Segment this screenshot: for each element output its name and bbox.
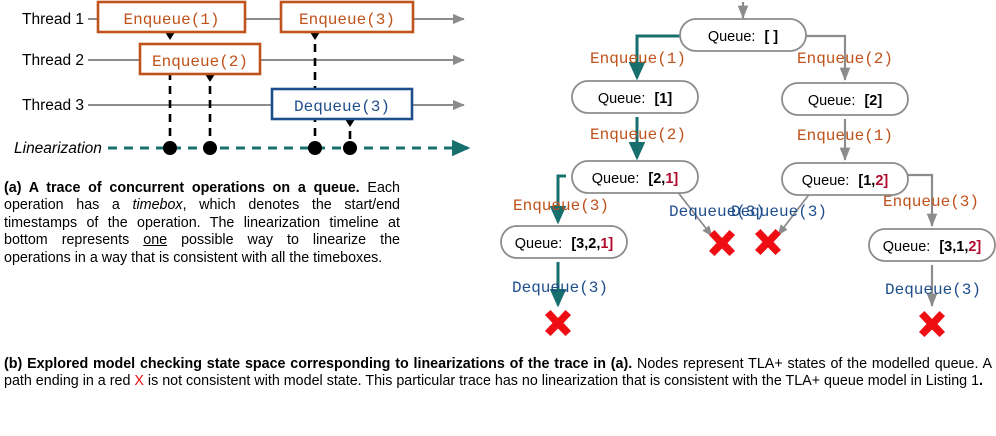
timebox-label: Enqueue(2) <box>152 53 248 71</box>
tree-node-q12[interactable]: Queue: [1,2] <box>782 163 908 195</box>
tree-node-q1[interactable]: Queue: [1] <box>572 81 698 113</box>
node-value-red: 2] <box>875 173 888 189</box>
timebox-label: Enqueue(3) <box>299 11 395 29</box>
failure-x-icon <box>709 230 735 256</box>
node-value-red: 1] <box>665 171 678 187</box>
figure-container: Thread 1 Thread 2 Thread 3 Linearization… <box>0 0 996 436</box>
tree-node-q2[interactable]: Queue: [2] <box>782 83 908 115</box>
caption-b-rest-3: . <box>979 373 983 389</box>
caption-b-red-x: X <box>134 373 144 389</box>
edge-label-enqueue-3-right: Enqueue(3) <box>883 193 979 211</box>
caption-a-bold: (a) A trace of concurrent operations on … <box>4 180 360 196</box>
edge-label-enqueue-2: Enqueue(2) <box>797 50 893 68</box>
failure-x-icon <box>755 229 781 255</box>
edge-label-enqueue-2b: Enqueue(2) <box>590 126 686 144</box>
node-value: [2] <box>864 93 882 109</box>
figure-svg: Thread 1 Thread 2 Thread 3 Linearization… <box>0 0 996 356</box>
tree-node-q21[interactable]: Queue: [2,1] <box>572 161 698 193</box>
linearization-point <box>308 141 322 155</box>
lane-label-linearization: Linearization <box>14 140 102 157</box>
edge-label-dequeue-3-d: Dequeue(3) <box>885 281 981 299</box>
node-value: [1] <box>654 91 672 107</box>
svg-text:Queue: [2]: Queue: [2] <box>808 93 883 109</box>
edge-label-dequeue-3-b: Dequeue(3) <box>731 203 827 221</box>
node-value: [ ] <box>764 29 778 45</box>
lane-label-thread-3: Thread 3 <box>22 97 84 114</box>
tree-node-q321[interactable]: Queue: [3,2,1] <box>501 226 627 258</box>
node-prefix: Queue: <box>598 91 646 107</box>
node-value: [1, <box>858 173 875 189</box>
timebox-label: Enqueue(1) <box>123 11 219 29</box>
caption-b-rest-2: is not consistent with model state. This… <box>144 373 979 389</box>
tree-node-root[interactable]: Queue: [ ] <box>680 19 806 51</box>
svg-text:Queue: [3,1,2]: Queue: [3,1,2] <box>883 239 982 255</box>
node-prefix: Queue: <box>808 93 856 109</box>
tree-node-q312[interactable]: Queue: [3,1,2] <box>869 229 995 261</box>
node-value: [3,1, <box>939 239 968 255</box>
caption-a: (a) A trace of concurrent operations on … <box>4 180 400 267</box>
timebox-enqueue-2[interactable]: Enqueue(2) <box>140 44 260 74</box>
svg-text:Queue: [ ]: Queue: [ ] <box>708 29 778 45</box>
svg-text:Queue: [2,1]: Queue: [2,1] <box>592 171 679 187</box>
failure-x-icon <box>919 311 945 337</box>
failure-x-icon <box>545 310 571 336</box>
node-prefix: Queue: <box>592 171 640 187</box>
linearization-point <box>203 141 217 155</box>
edge-label-enqueue-3-left: Enqueue(3) <box>513 197 609 215</box>
lane-label-thread-1: Thread 1 <box>22 11 84 28</box>
linearization-point <box>163 141 177 155</box>
edge-label-enqueue-1b: Enqueue(1) <box>797 127 893 145</box>
svg-text:Queue: [1]: Queue: [1] <box>598 91 673 107</box>
timebox-dequeue-3[interactable]: Dequeue(3) <box>272 89 412 119</box>
node-prefix: Queue: <box>883 239 931 255</box>
node-value: [2, <box>648 171 665 187</box>
timebox-enqueue-1[interactable]: Enqueue(1) <box>98 2 245 32</box>
svg-text:Queue: [1,2]: Queue: [1,2] <box>802 173 889 189</box>
node-prefix: Queue: <box>515 236 563 252</box>
node-value-red: 1] <box>600 236 613 252</box>
lane-label-thread-2: Thread 2 <box>22 52 84 69</box>
node-prefix: Queue: <box>708 29 756 45</box>
node-value-red: 2] <box>968 239 981 255</box>
edge-label-enqueue-1: Enqueue(1) <box>590 50 686 68</box>
node-value: [3,2, <box>571 236 600 252</box>
linearization-point <box>343 141 357 155</box>
panel-a-trace-timeline: Thread 1 Thread 2 Thread 3 Linearization… <box>14 2 468 157</box>
caption-b-bold: (b) Explored model checking state space … <box>4 356 632 372</box>
node-prefix: Queue: <box>802 173 850 189</box>
caption-a-underline: one <box>143 232 167 248</box>
caption-a-italic: timebox <box>133 197 183 213</box>
edge-label-dequeue-3-c: Dequeue(3) <box>512 279 608 297</box>
timebox-enqueue-3[interactable]: Enqueue(3) <box>281 2 413 32</box>
caption-b: (b) Explored model checking state space … <box>4 356 992 391</box>
timebox-label: Dequeue(3) <box>294 98 390 116</box>
svg-text:Queue: [3,2,1]: Queue: [3,2,1] <box>515 236 614 252</box>
